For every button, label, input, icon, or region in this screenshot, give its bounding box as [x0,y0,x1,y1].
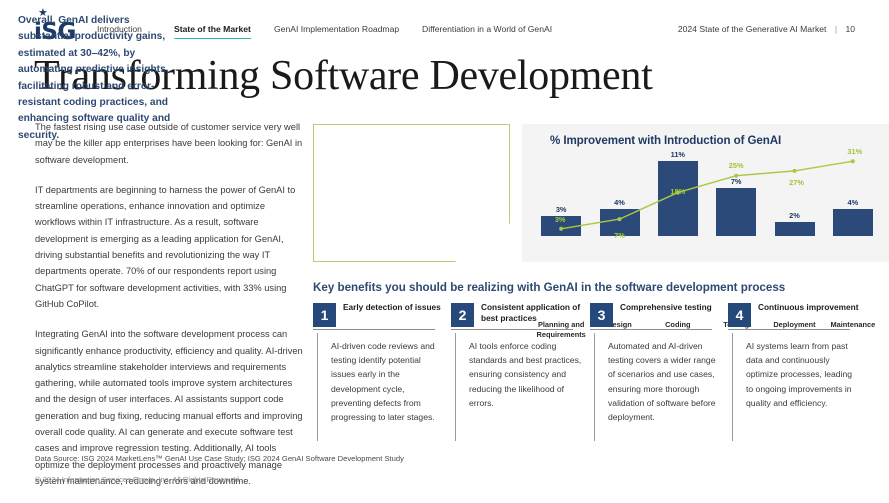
chart-plot-area: 3%Planning andRequirements4%Design11%Cod… [532,154,882,236]
benefit-card-rule [451,329,573,330]
benefit-card-body: AI-driven code reviews and testing ident… [331,339,445,424]
benefit-card-title: Comprehensive testing [620,302,725,313]
benefit-card-title: Consistent application of best practices [481,302,586,324]
benefit-card-title: Continuous improvement [758,302,863,313]
benefit-card-1: 1 Early detection of issues AI-driven co… [313,303,447,329]
nav-item-genai-implementation-roadmap[interactable]: GenAI Implementation Roadmap [274,24,399,38]
chart-line-value-label: 18% [658,187,698,196]
body-paragraph-2: IT departments are beginning to harness … [35,182,305,312]
nav-item-differentiation[interactable]: Differentiation in a World of GenAI [422,24,552,38]
chart-bar-value-label: 7% [716,177,756,186]
benefit-number-badge: 1 [313,303,336,327]
chart-line-value-label: 31% [835,147,875,156]
chart-line-value-label: 25% [716,161,756,170]
chart-bar-value-label: 4% [600,198,640,207]
left-body-column: The fastest rising use case outside of c… [35,119,305,503]
benefit-card-divider [317,333,318,441]
callout-box [313,124,510,262]
chart-bar-value-label: 3% [541,205,581,214]
chart-line-value-label: 3% [540,215,580,224]
benefit-card-header: 4 Continuous improvement [728,303,862,329]
benefit-card-body: Automated and AI-driven testing covers a… [608,339,722,424]
callout-text: Overall, GenAI delivers substantial prod… [18,13,186,144]
benefit-card-body: AI tools enforce coding standards and be… [469,339,583,410]
chart-bar-value-label: 4% [833,198,873,207]
chart-bar [775,222,815,236]
benefit-card-rule [313,329,435,330]
chart-bar [716,188,756,236]
key-benefits-heading: Key benefits you should be realizing wit… [313,281,785,294]
benefit-card-divider [594,333,595,441]
chart-panel: % Improvement with Introduction of GenAI… [522,124,889,262]
data-source-note: Data Source: ISG 2024 MarketLens™ GenAI … [35,454,404,463]
chart-bar [833,209,873,236]
benefit-card-header: 1 Early detection of issues [313,303,447,329]
nav-separator: | [829,24,843,34]
benefit-card-2: 2 Consistent application of best practic… [451,303,585,329]
benefit-card-divider [732,333,733,441]
report-title: 2024 State of the Generative AI Market [678,24,827,34]
key-benefits-cards: 1 Early detection of issues AI-driven co… [313,303,889,448]
benefit-card-divider [455,333,456,441]
chart-line-value-label: 27% [777,178,817,187]
benefit-card-title: Early detection of issues [343,302,448,313]
copyright-note: © 2024 Information Services Group, Inc. … [35,475,241,484]
benefit-card-4: 4 Continuous improvement AI systems lear… [728,303,862,329]
benefit-card-rule [728,329,850,330]
benefit-card-header: 2 Consistent application of best practic… [451,303,585,329]
chart-line-value-label: 7% [600,231,640,240]
benefit-card-rule [590,329,712,330]
chart-bar-value-label: 11% [658,150,698,159]
benefit-number-badge: 4 [728,303,751,327]
page-number: 10 [845,24,855,34]
chart-bar [658,161,698,236]
benefit-card-body: AI systems learn from past data and cont… [746,339,860,410]
body-paragraph-3: Integrating GenAI into the software deve… [35,326,305,489]
benefit-number-badge: 2 [451,303,474,327]
benefit-card-3: 3 Comprehensive testing Automated and AI… [590,303,724,329]
chart-title: % Improvement with Introduction of GenAI [550,134,781,147]
benefit-number-badge: 3 [590,303,613,327]
benefit-card-header: 3 Comprehensive testing [590,303,724,329]
nav-right-meta: 2024 State of the Generative AI Market |… [678,24,855,34]
chart-bar-value-label: 2% [775,211,815,220]
